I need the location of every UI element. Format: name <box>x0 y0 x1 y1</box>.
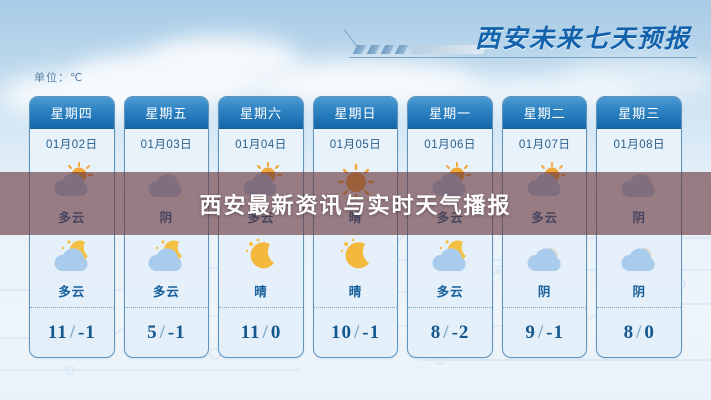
weekday-label: 星期三 <box>597 97 681 129</box>
temp-low: -1 <box>168 322 186 344</box>
night-weather-cell: 晴 <box>314 233 398 307</box>
date-label: 01月03日 <box>125 129 209 159</box>
weekday-label: 星期一 <box>408 97 492 129</box>
headline-text: 西安最新资讯与实时天气播报 <box>199 188 511 220</box>
date-label: 01月08日 <box>597 129 681 159</box>
temperature-range: 8 / 0 <box>597 307 681 357</box>
night-condition: 晴 <box>349 281 363 300</box>
temperature-range: 11 / 0 <box>219 307 303 357</box>
night-weather-cell: 阴 <box>503 233 587 307</box>
date-label: 01月04日 <box>219 129 303 159</box>
date-label: 01月06日 <box>408 129 492 159</box>
temperature-range: 10 / -1 <box>314 307 398 357</box>
weather-forecast-poster: 西安未来七天预报 单位：℃ 星期四 01月02日 多云 多云 11 / <box>0 0 711 400</box>
temp-separator: / <box>70 322 76 344</box>
weekday-label: 星期二 <box>503 97 587 129</box>
temp-separator: / <box>160 322 166 344</box>
temp-low: 0 <box>644 322 655 344</box>
night-weather-cell: 晴 <box>219 233 303 307</box>
night-condition: 晴 <box>254 281 268 300</box>
date-label: 01月05日 <box>314 129 398 159</box>
night-condition: 多云 <box>437 281 464 300</box>
night-condition: 多云 <box>58 281 85 300</box>
moon-cloud-icon <box>427 233 473 279</box>
temp-separator: / <box>538 322 544 344</box>
temp-low: -1 <box>78 322 96 344</box>
night-weather-cell: 多云 <box>125 233 209 307</box>
temp-separator: / <box>636 322 642 344</box>
cloud-icon <box>522 233 568 279</box>
unit-label: 单位：℃ <box>34 69 83 85</box>
moon-icon <box>238 233 284 279</box>
date-label: 01月07日 <box>503 129 587 159</box>
temp-high: 11 <box>241 322 261 344</box>
temp-high: 8 <box>624 322 635 344</box>
temperature-range: 5 / -1 <box>125 307 209 357</box>
night-weather-cell: 阴 <box>597 233 681 307</box>
temperature-range: 11 / -1 <box>30 307 114 357</box>
temp-separator: / <box>443 322 449 344</box>
temp-low: -1 <box>362 322 380 344</box>
night-weather-cell: 多云 <box>30 233 114 307</box>
weekday-label: 星期六 <box>219 97 303 129</box>
temperature-range: 9 / -1 <box>503 307 587 357</box>
temp-high: 8 <box>431 322 442 344</box>
weekday-label: 星期五 <box>125 97 209 129</box>
temp-high: 9 <box>525 322 536 344</box>
weekday-label: 星期四 <box>30 97 114 129</box>
night-condition: 阴 <box>633 281 647 300</box>
night-condition: 多云 <box>153 281 180 300</box>
date-label: 01月02日 <box>30 129 114 159</box>
temp-low: -1 <box>546 322 564 344</box>
page-title: 西安未来七天预报 <box>475 19 691 55</box>
temp-low: 0 <box>271 322 282 344</box>
temp-low: -2 <box>452 322 470 344</box>
cloud-icon <box>616 233 662 279</box>
temp-separator: / <box>263 322 269 344</box>
temp-high: 5 <box>147 322 158 344</box>
moon-icon <box>333 233 379 279</box>
temp-high: 11 <box>48 322 68 344</box>
night-weather-cell: 多云 <box>408 233 492 307</box>
weekday-label: 星期日 <box>314 97 398 129</box>
poster-title-block: 西安未来七天预报 <box>347 14 697 66</box>
moon-cloud-icon <box>49 233 95 279</box>
temp-separator: / <box>354 322 360 344</box>
moon-cloud-icon <box>143 233 189 279</box>
headline-overlay-banner: 西安最新资讯与实时天气播报 <box>0 172 711 235</box>
temperature-range: 8 / -2 <box>408 307 492 357</box>
temp-high: 10 <box>331 322 352 344</box>
night-condition: 阴 <box>538 281 552 300</box>
